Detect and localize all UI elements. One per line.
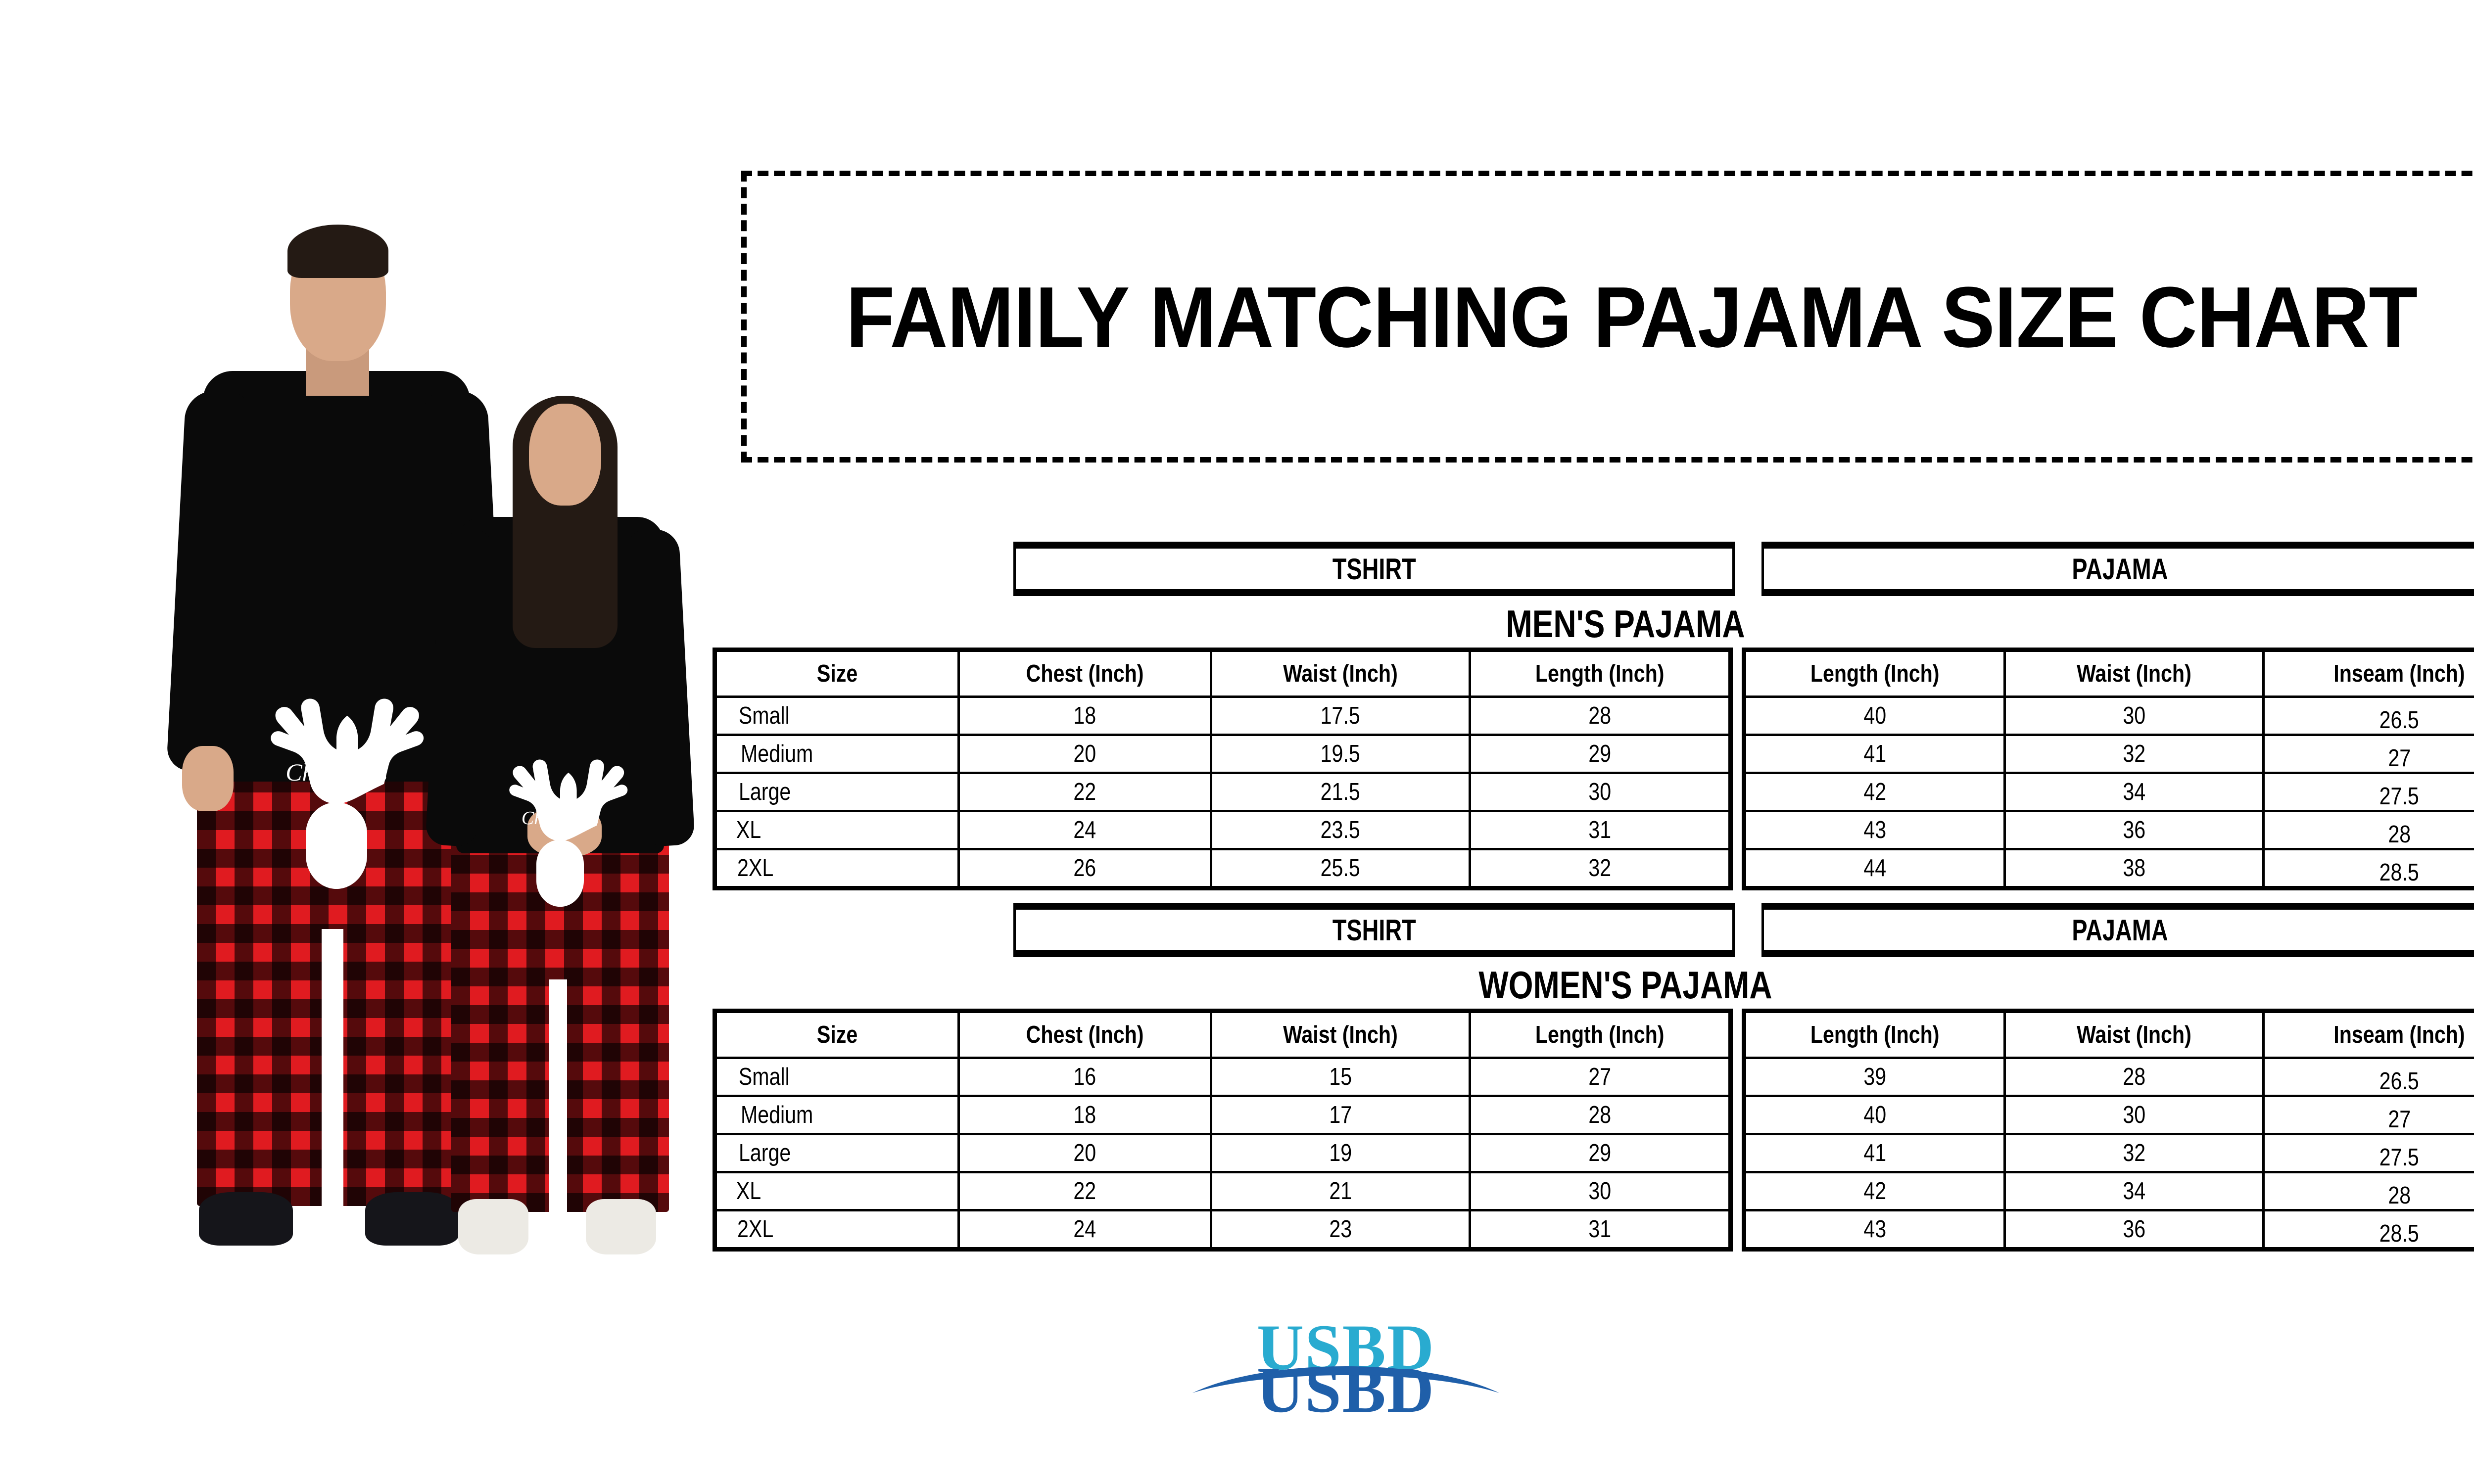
womens-tshirt-banner-label: TSHIRT (1332, 913, 1416, 947)
cell-waist: 34 (2003, 774, 2262, 810)
usbd-logo-svg: USBD USBD (1173, 1306, 1519, 1439)
cell-size: XL (717, 812, 957, 848)
table-row: Medium 20 19.5 29 (717, 734, 1728, 772)
cell-size: Medium (717, 736, 957, 772)
cell-chest: 18 (957, 1097, 1210, 1133)
womens-pajama-banner-label: PAJAMA (2072, 913, 2168, 947)
cell-chest: 20 (957, 1135, 1210, 1171)
womens-section-heading: WOMEN'S PAJAMA (877, 961, 2374, 1009)
cell-waist: 36 (2003, 812, 2262, 848)
svg-text:Merry: Merry (544, 794, 576, 808)
cell-waist: 30 (2003, 698, 2262, 734)
cell-inseam: 26.5 (2262, 698, 2474, 734)
table-row: 2XL 24 23 31 (717, 1209, 1728, 1247)
cell-length: 31 (1469, 1211, 1728, 1247)
cell-length: 43 (1746, 1211, 2003, 1247)
cell-size: Large (717, 774, 957, 810)
cell-waist: 17.5 (1210, 698, 1469, 734)
cell-waist: 30 (2003, 1097, 2262, 1133)
cell-waist: 15 (1210, 1059, 1469, 1095)
cell-waist: 19 (1210, 1135, 1469, 1171)
table-row: 39 28 26.5 (1746, 1057, 2474, 1095)
cell-waist: 23.5 (1210, 812, 1469, 848)
table-row: 40 30 26.5 (1746, 696, 2474, 734)
cell-inseam: 27 (2262, 736, 2474, 772)
col-header-inseam: Inseam (Inch) (2262, 1013, 2474, 1057)
womens-pajama-table: Length (Inch) Waist (Inch) Inseam (Inch)… (1742, 1009, 2474, 1252)
cell-inseam: 28 (2262, 812, 2474, 848)
table-row: Large 20 19 29 (717, 1133, 1728, 1171)
table-row: 40 30 27 (1746, 1095, 2474, 1133)
col-header-inseam: Inseam (Inch) (2262, 652, 2474, 696)
mens-pajama-banner-label: PAJAMA (2072, 552, 2168, 586)
table-row: 44 38 28.5 (1746, 848, 2474, 886)
cell-waist: 21.5 (1210, 774, 1469, 810)
cell-chest: 16 (957, 1059, 1210, 1095)
col-header-size: Size (717, 1013, 957, 1057)
table-header-row: Length (Inch) Waist (Inch) Inseam (Inch) (1746, 1013, 2474, 1057)
mens-tshirt-banner: TSHIRT (1013, 542, 1735, 596)
cell-size: Large (717, 1135, 957, 1171)
cell-length: 29 (1469, 1135, 1728, 1171)
cell-waist: 32 (2003, 736, 2262, 772)
womens-tables: Size Chest (Inch) Waist (Inch) Length (I… (713, 1009, 2474, 1252)
cell-waist: 25.5 (1210, 850, 1469, 886)
mens-section: TSHIRT PAJAMA MEN'S PAJAMA Size Chest (I… (713, 542, 2474, 890)
cell-length: 32 (1469, 850, 1728, 886)
cell-waist: 38 (2003, 850, 2262, 886)
cell-inseam: 26.5 (2262, 1059, 2474, 1095)
mens-tshirt-banner-label: TSHIRT (1332, 552, 1416, 586)
col-header-length: Length (Inch) (1746, 652, 2003, 696)
table-row: XL 22 21 30 (717, 1171, 1728, 1209)
female-face (529, 404, 601, 506)
cell-length: 41 (1746, 736, 2003, 772)
cell-length: 31 (1469, 812, 1728, 848)
cell-length: 41 (1746, 1135, 2003, 1171)
mens-banner-row: TSHIRT PAJAMA (713, 542, 2474, 600)
womens-tshirt-table: Size Chest (Inch) Waist (Inch) Length (I… (713, 1009, 1733, 1252)
cell-inseam: 28.5 (2262, 850, 2474, 886)
cell-size: Medium (717, 1097, 957, 1133)
mens-tshirt-table: Size Chest (Inch) Waist (Inch) Length (I… (713, 648, 1733, 890)
cell-length: 40 (1746, 1097, 2003, 1133)
table-row: 2XL 26 25.5 32 (717, 848, 1728, 886)
cell-length: 28 (1469, 1097, 1728, 1133)
table-header-row: Size Chest (Inch) Waist (Inch) Length (I… (717, 652, 1728, 696)
col-header-length: Length (Inch) (1469, 652, 1728, 696)
cell-size: Small (717, 1059, 957, 1095)
cell-length: 42 (1746, 774, 2003, 810)
table-row: XL 24 23.5 31 (717, 810, 1728, 848)
table-row: Medium 18 17 28 (717, 1095, 1728, 1133)
cell-inseam: 27.5 (2262, 1135, 2474, 1171)
cell-waist: 21 (1210, 1173, 1469, 1209)
table-row: 43 36 28 (1746, 810, 2474, 848)
cell-length: 44 (1746, 850, 2003, 886)
size-chart-page: Merry Christmas (0, 0, 2474, 1484)
cell-waist: 23 (1210, 1211, 1469, 1247)
table-row: Small 18 17.5 28 (717, 696, 1728, 734)
cell-size: Small (717, 698, 957, 734)
cell-length: 39 (1746, 1059, 2003, 1095)
col-header-chest: Chest (Inch) (957, 652, 1210, 696)
mens-pajama-table: Length (Inch) Waist (Inch) Inseam (Inch)… (1742, 648, 2474, 890)
cell-length: 42 (1746, 1173, 2003, 1209)
product-photo: Merry Christmas (153, 74, 742, 1271)
cell-length: 29 (1469, 736, 1728, 772)
table-header-row: Length (Inch) Waist (Inch) Inseam (Inch) (1746, 652, 2474, 696)
cell-size: 2XL (717, 850, 957, 886)
cell-waist: 17 (1210, 1097, 1469, 1133)
cell-length: 27 (1469, 1059, 1728, 1095)
svg-text:Christmas: Christmas (522, 808, 599, 829)
table-row: Small 16 15 27 (717, 1057, 1728, 1095)
cell-waist: 28 (2003, 1059, 2262, 1095)
cell-waist: 36 (2003, 1211, 2262, 1247)
mens-section-heading: MEN'S PAJAMA (877, 600, 2374, 648)
col-header-chest: Chest (Inch) (957, 1013, 1210, 1057)
cell-chest: 26 (957, 850, 1210, 886)
col-header-size: Size (717, 652, 957, 696)
cell-length: 30 (1469, 774, 1728, 810)
usbd-logo-text-dark: USBD (1257, 1353, 1435, 1426)
cell-length: 40 (1746, 698, 2003, 734)
table-row: 41 32 27 (1746, 734, 2474, 772)
table-header-row: Size Chest (Inch) Waist (Inch) Length (I… (717, 1013, 1728, 1057)
womens-banner-row: TSHIRT PAJAMA (713, 903, 2474, 961)
cell-size: XL (717, 1173, 957, 1209)
cell-chest: 18 (957, 698, 1210, 734)
cell-length: 30 (1469, 1173, 1728, 1209)
cell-chest: 24 (957, 1211, 1210, 1247)
chart-title: FAMILY MATCHING PAJAMA SIZE CHART (846, 267, 2417, 367)
cell-inseam: 28.5 (2262, 1211, 2474, 1247)
usbd-logo: USBD USBD (1173, 1306, 1519, 1439)
col-header-length: Length (Inch) (1469, 1013, 1728, 1057)
cell-waist: 19.5 (1210, 736, 1469, 772)
chart-title-box: FAMILY MATCHING PAJAMA SIZE CHART (741, 171, 2474, 463)
cell-chest: 22 (957, 1173, 1210, 1209)
cell-waist: 32 (2003, 1135, 2262, 1171)
table-row: 43 36 28.5 (1746, 1209, 2474, 1247)
cell-inseam: 27.5 (2262, 774, 2474, 810)
table-row: Large 22 21.5 30 (717, 772, 1728, 810)
table-row: 41 32 27.5 (1746, 1133, 2474, 1171)
cell-inseam: 28 (2262, 1173, 2474, 1209)
table-row: 42 34 27.5 (1746, 772, 2474, 810)
col-header-waist: Waist (Inch) (1210, 652, 1469, 696)
female-model: Merry Christmas (430, 267, 708, 1271)
cell-inseam: 27 (2262, 1097, 2474, 1133)
womens-tshirt-banner: TSHIRT (1013, 903, 1735, 957)
womens-section: TSHIRT PAJAMA WOMEN'S PAJAMA Size Chest … (713, 903, 2474, 1252)
cell-chest: 24 (957, 812, 1210, 848)
cell-waist: 34 (2003, 1173, 2262, 1209)
cell-length: 28 (1469, 698, 1728, 734)
cell-length: 43 (1746, 812, 2003, 848)
mens-pajama-banner: PAJAMA (1761, 542, 2474, 596)
col-header-waist: Waist (Inch) (2003, 652, 2262, 696)
col-header-waist: Waist (Inch) (1210, 1013, 1469, 1057)
mens-tables: Size Chest (Inch) Waist (Inch) Length (I… (713, 648, 2474, 890)
table-row: 42 34 28 (1746, 1171, 2474, 1209)
col-header-length: Length (Inch) (1746, 1013, 2003, 1057)
cell-chest: 20 (957, 736, 1210, 772)
col-header-waist: Waist (Inch) (2003, 1013, 2262, 1057)
svg-text:Christmas: Christmas (285, 758, 387, 786)
cell-size: 2XL (717, 1211, 957, 1247)
cell-chest: 22 (957, 774, 1210, 810)
womens-pajama-banner: PAJAMA (1761, 903, 2474, 957)
